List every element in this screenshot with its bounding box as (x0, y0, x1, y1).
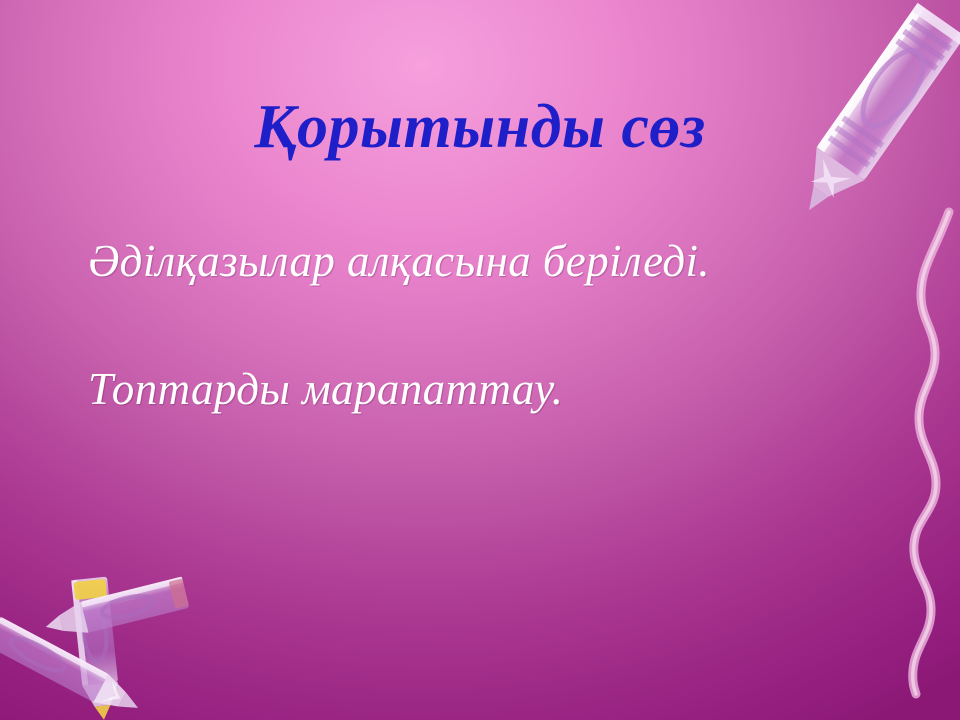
slide-body-line-2: Топтарды марапаттау. (88, 366, 563, 413)
slide-title: Қорытынды сөз (0, 96, 960, 158)
slide-body-line-1: Әділқазылар алқасына беріледі. (88, 238, 710, 285)
scribble-wave-icon (888, 200, 960, 700)
crayons-bottom-left-icon (0, 556, 232, 720)
presentation-slide: Қорытынды сөз Әділқазылар алқасына беріл… (0, 0, 960, 720)
